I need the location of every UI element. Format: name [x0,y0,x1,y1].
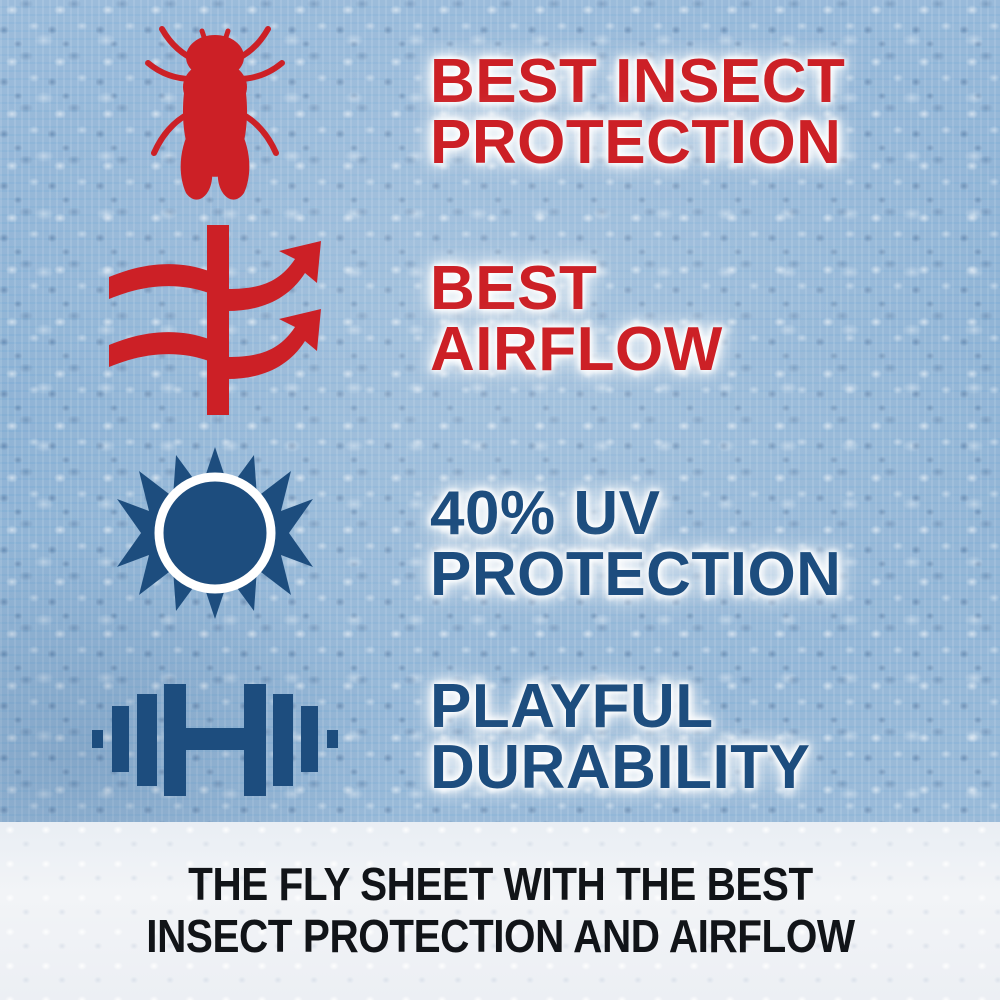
feature-row-durability: PLAYFUL DURABILITY [0,655,1000,820]
text-cell-uv: 40% UV PROTECTION [430,484,1000,606]
fly-icon [140,21,290,206]
sun-icon [115,445,315,645]
airflow-arrows-icon [103,225,328,415]
feature-row-insect-protection: BEST INSECT PROTECTION [0,18,1000,208]
caption-headline: THE FLY SHEET WITH THE BEST INSECT PROTE… [146,859,854,962]
text-cell-insect: BEST INSECT PROTECTION [430,52,1000,174]
icon-cell-insect [0,21,430,206]
feature-label-durability: PLAYFUL DURABILITY [430,677,980,799]
icon-cell-uv [0,445,430,645]
feature-row-uv-protection: 40% UV PROTECTION [0,442,1000,647]
feature-row-airflow: BEST AIRFLOW [0,225,1000,415]
icon-cell-durability [0,678,430,798]
text-cell-airflow: BEST AIRFLOW [430,259,1000,381]
feature-label-airflow: BEST AIRFLOW [430,259,980,381]
infographic-poster: BEST INSECT PROTECTION [0,0,1000,1000]
icon-cell-airflow [0,225,430,415]
feature-label-insect-protection: BEST INSECT PROTECTION [430,52,980,174]
feature-label-uv-protection: 40% UV PROTECTION [430,484,980,606]
barbell-icon [90,678,340,798]
caption-bar: THE FLY SHEET WITH THE BEST INSECT PROTE… [0,822,1000,1000]
text-cell-durability: PLAYFUL DURABILITY [430,677,1000,799]
